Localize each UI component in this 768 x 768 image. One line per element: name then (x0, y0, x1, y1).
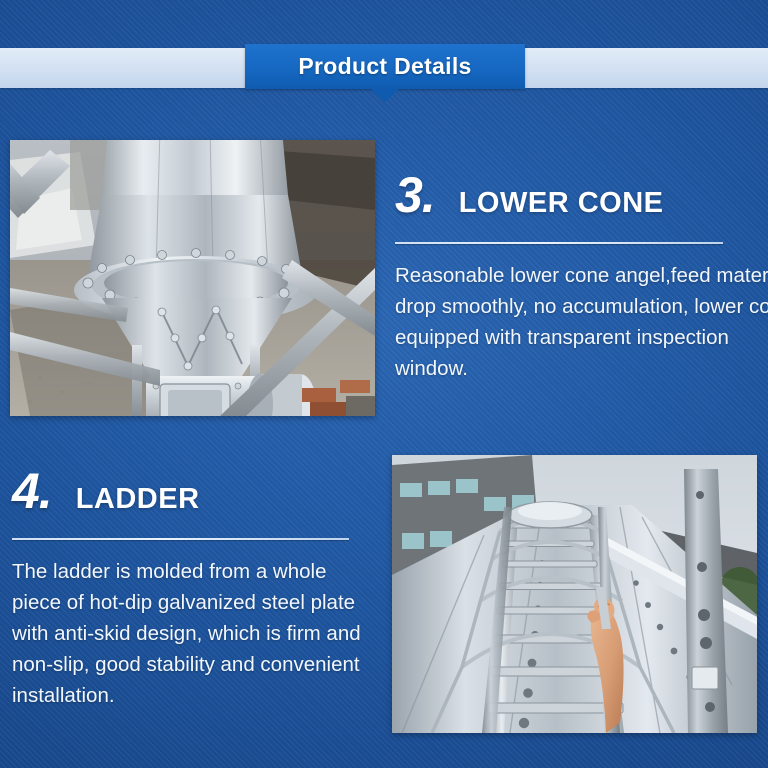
section-divider (395, 242, 723, 244)
photo-lower-cone (10, 140, 375, 416)
section-heading: 4. LADDER (12, 466, 380, 516)
section-body: Reasonable lower cone angel,feed materia… (395, 260, 768, 384)
section-title: LADDER (76, 485, 200, 514)
ladder-illustration (392, 455, 757, 733)
section-number: 4. (12, 466, 52, 516)
product-details-banner: Product Details (0, 0, 768, 768)
section-title: LOWER CONE (459, 189, 664, 218)
section-heading: 3. LOWER CONE (395, 170, 768, 220)
section-body: The ladder is molded from a whole piece … (12, 556, 380, 711)
section-divider (12, 538, 349, 540)
header-tab: Product Details (245, 44, 525, 89)
lower-cone-illustration (10, 140, 375, 416)
section-number: 3. (395, 170, 435, 220)
photo-ladder (392, 455, 757, 733)
header-tab-label: Product Details (298, 53, 471, 80)
section-lower-cone: 3. LOWER CONE Reasonable lower cone ange… (395, 170, 768, 384)
header-tab-pointer-icon (370, 88, 400, 102)
section-ladder: 4. LADDER The ladder is molded from a wh… (12, 466, 380, 711)
